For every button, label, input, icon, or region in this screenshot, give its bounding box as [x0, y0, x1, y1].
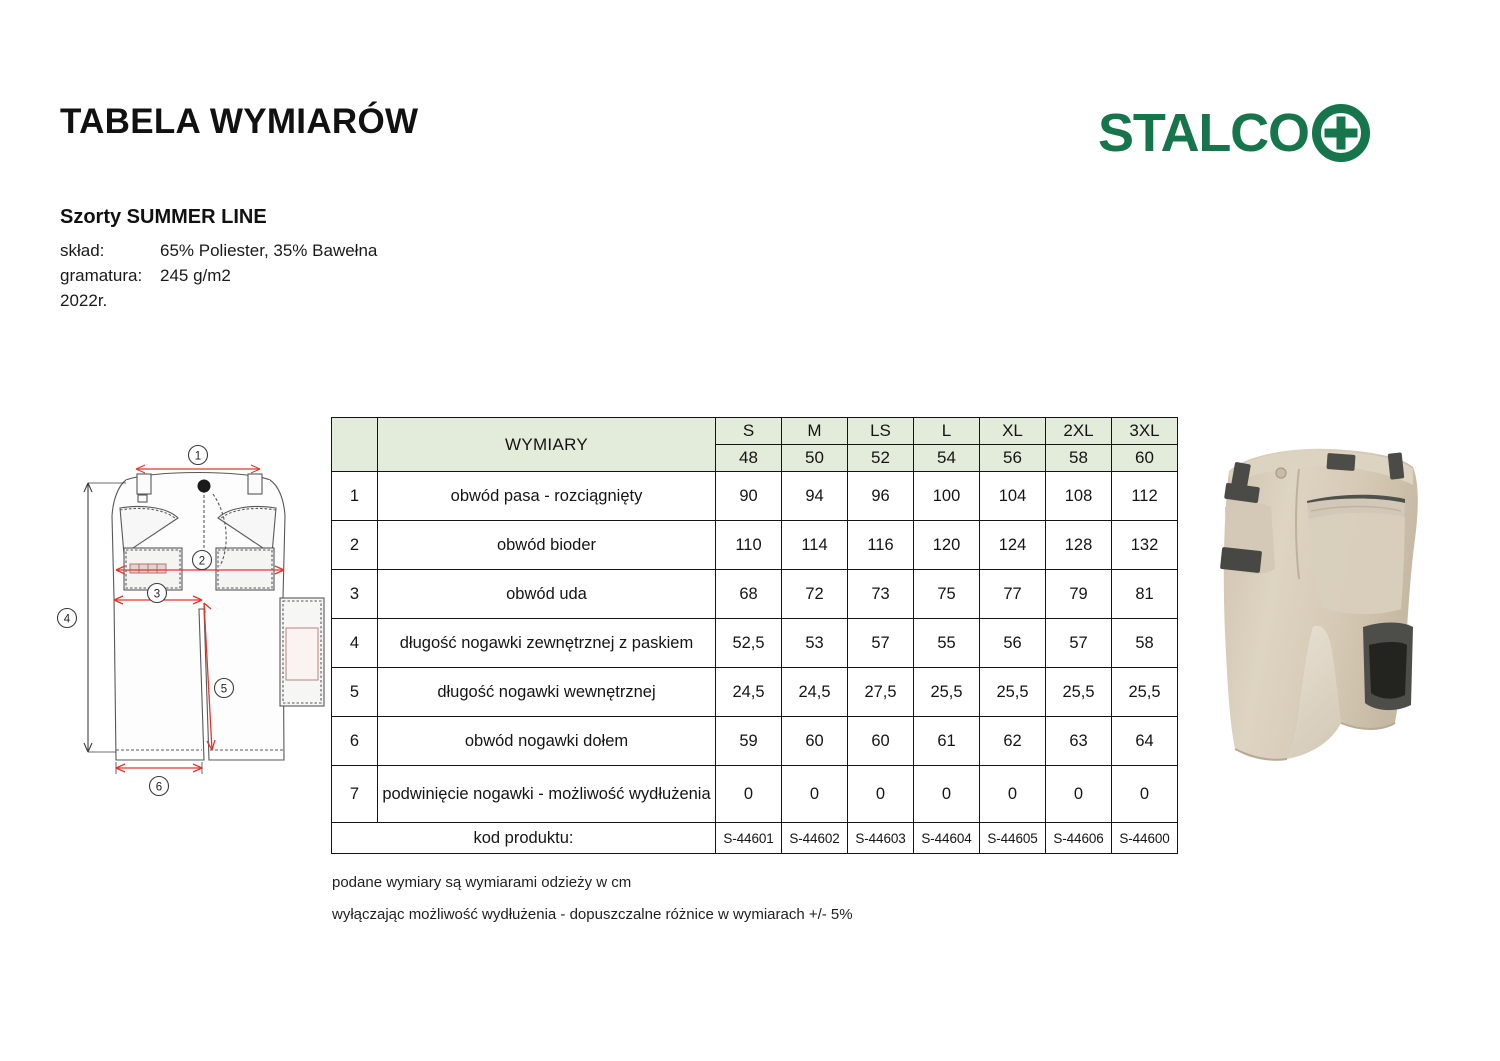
- brand-wordmark: STALCO: [1098, 106, 1309, 160]
- measurements-table-wrapper: WYMIARY S M LS L XL 2XL 3XL 48 50 52 54 …: [331, 417, 1178, 854]
- cell-value: 72: [782, 570, 848, 619]
- cell-value: 63: [1046, 717, 1112, 766]
- spec-row-sklad: skład: 65% Poliester, 35% Bawełna: [60, 238, 377, 263]
- row-description: obwód pasa - rozciągnięty: [378, 472, 716, 521]
- cell-value: 73: [848, 570, 914, 619]
- cell-value: 25,5: [1046, 668, 1112, 717]
- cell-value: 57: [848, 619, 914, 668]
- footnote-tolerance: wyłączając możliwość wydłużenia - dopusz…: [332, 899, 853, 931]
- cell-value: 120: [914, 521, 980, 570]
- footnote-units: podane wymiary są wymiarami odzieży w cm: [332, 867, 853, 899]
- product-code-label: kod produktu:: [332, 823, 716, 854]
- table-row: 4 długość nogawki zewnętrznej z paskiem …: [332, 619, 1178, 668]
- cell-value: 53: [782, 619, 848, 668]
- row-description: obwód nogawki dołem: [378, 717, 716, 766]
- row-index: 4: [332, 619, 378, 668]
- svg-text:4: 4: [64, 614, 71, 626]
- spec-value-gramatura: 245 g/m2: [160, 263, 231, 288]
- cell-value: 75: [914, 570, 980, 619]
- svg-text:5: 5: [221, 684, 227, 696]
- header-size-s: S: [716, 418, 782, 445]
- circle-plus-icon: [1310, 102, 1372, 164]
- row-description: obwód bioder: [378, 521, 716, 570]
- size-chart-page: TABELA WYMIARÓW STALCO Szorty SUMMER LIN…: [0, 0, 1500, 1061]
- cell-value: 110: [716, 521, 782, 570]
- cell-value: 61: [914, 717, 980, 766]
- callout-6: 6: [150, 777, 169, 796]
- svg-text:2: 2: [199, 556, 205, 568]
- product-code: S-44600: [1112, 823, 1178, 854]
- row-index: 2: [332, 521, 378, 570]
- header-num-60: 60: [1112, 445, 1178, 472]
- header-size-m: M: [782, 418, 848, 445]
- cell-value: 132: [1112, 521, 1178, 570]
- cell-value: 52,5: [716, 619, 782, 668]
- svg-text:1: 1: [195, 451, 201, 463]
- cell-value: 104: [980, 472, 1046, 521]
- cell-value: 27,5: [848, 668, 914, 717]
- header-size-xl: XL: [980, 418, 1046, 445]
- cell-value: 124: [980, 521, 1046, 570]
- svg-text:6: 6: [156, 782, 162, 794]
- table-row: 6 obwód nogawki dołem 59 60 60 61 62 63 …: [332, 717, 1178, 766]
- cell-value: 55: [914, 619, 980, 668]
- product-code: S-44606: [1046, 823, 1112, 854]
- header-size-3xl: 3XL: [1112, 418, 1178, 445]
- cell-value: 62: [980, 717, 1046, 766]
- row-description: obwód uda: [378, 570, 716, 619]
- cell-value: 56: [980, 619, 1046, 668]
- header-num-50: 50: [782, 445, 848, 472]
- cell-value: 0: [914, 766, 980, 823]
- header-num-48: 48: [716, 445, 782, 472]
- cell-value: 25,5: [980, 668, 1046, 717]
- header-cell-wymiary: WYMIARY: [378, 418, 716, 472]
- header-cell-index: [332, 418, 378, 472]
- header-num-56: 56: [980, 445, 1046, 472]
- row-description: podwinięcie nogawki - możliwość wydłużen…: [378, 766, 716, 823]
- product-spec-list: skład: 65% Poliester, 35% Bawełna gramat…: [60, 238, 377, 313]
- cell-value: 0: [848, 766, 914, 823]
- product-code: S-44604: [914, 823, 980, 854]
- cell-value: 0: [1112, 766, 1178, 823]
- row-index: 6: [332, 717, 378, 766]
- product-photo: [1199, 423, 1444, 781]
- callout-3: 3: [148, 584, 167, 603]
- footnotes: podane wymiary są wymiarami odzieży w cm…: [332, 867, 853, 931]
- cell-value: 60: [848, 717, 914, 766]
- spec-value-year: 2022r.: [60, 288, 107, 313]
- header-size-l: L: [914, 418, 980, 445]
- measurements-table: WYMIARY S M LS L XL 2XL 3XL 48 50 52 54 …: [331, 417, 1178, 854]
- cell-value: 81: [1112, 570, 1178, 619]
- cell-value: 90: [716, 472, 782, 521]
- spec-row-gramatura: gramatura: 245 g/m2: [60, 263, 377, 288]
- header-num-58: 58: [1046, 445, 1112, 472]
- cell-value: 24,5: [782, 668, 848, 717]
- cell-value: 57: [1046, 619, 1112, 668]
- row-index: 7: [332, 766, 378, 823]
- cell-value: 0: [782, 766, 848, 823]
- cell-value: 25,5: [914, 668, 980, 717]
- cell-value: 100: [914, 472, 980, 521]
- cell-value: 0: [980, 766, 1046, 823]
- product-code-row: kod produktu: S-44601 S-44602 S-44603 S-…: [332, 823, 1178, 854]
- cell-value: 58: [1112, 619, 1178, 668]
- cell-value: 59: [716, 717, 782, 766]
- product-code: S-44603: [848, 823, 914, 854]
- cell-value: 114: [782, 521, 848, 570]
- cell-value: 0: [716, 766, 782, 823]
- callout-1: 1: [189, 446, 208, 465]
- spec-label-gramatura: gramatura:: [60, 263, 160, 288]
- spec-value-sklad: 65% Poliester, 35% Bawełna: [160, 238, 377, 263]
- row-index: 5: [332, 668, 378, 717]
- cell-value: 96: [848, 472, 914, 521]
- header-num-54: 54: [914, 445, 980, 472]
- product-code: S-44601: [716, 823, 782, 854]
- stalco-logo: STALCO: [1098, 104, 1372, 162]
- spec-row-year: 2022r.: [60, 288, 377, 313]
- header-size-2xl: 2XL: [1046, 418, 1112, 445]
- spec-label-sklad: skład:: [60, 238, 160, 263]
- row-description: długość nogawki zewnętrznej z paskiem: [378, 619, 716, 668]
- button-detail: [198, 480, 211, 493]
- header-num-52: 52: [848, 445, 914, 472]
- product-code: S-44602: [782, 823, 848, 854]
- cell-value: 0: [1046, 766, 1112, 823]
- table-row: 1 obwód pasa - rozciągnięty 90 94 96 100…: [332, 472, 1178, 521]
- callout-5: 5: [215, 679, 234, 698]
- cell-value: 68: [716, 570, 782, 619]
- row-description: długość nogawki wewnętrznej: [378, 668, 716, 717]
- callout-4: 4: [58, 609, 77, 628]
- cell-value: 79: [1046, 570, 1112, 619]
- cell-value: 108: [1046, 472, 1112, 521]
- cell-value: 94: [782, 472, 848, 521]
- cell-value: 24,5: [716, 668, 782, 717]
- row-index: 3: [332, 570, 378, 619]
- shorts-technical-drawing: 1 2 3 4 5 6: [52, 438, 342, 818]
- product-name: Szorty SUMMER LINE: [60, 206, 267, 229]
- cell-value: 116: [848, 521, 914, 570]
- cell-value: 128: [1046, 521, 1112, 570]
- header-size-ls: LS: [848, 418, 914, 445]
- row-index: 1: [332, 472, 378, 521]
- table-row: 5 długość nogawki wewnętrznej 24,5 24,5 …: [332, 668, 1178, 717]
- product-code: S-44605: [980, 823, 1046, 854]
- svg-text:3: 3: [154, 589, 160, 601]
- page-title: TABELA WYMIARÓW: [60, 102, 418, 142]
- table-header-row-sizes: WYMIARY S M LS L XL 2XL 3XL: [332, 418, 1178, 445]
- table-row: 3 obwód uda 68 72 73 75 77 79 81: [332, 570, 1178, 619]
- cell-value: 64: [1112, 717, 1178, 766]
- callout-2: 2: [193, 551, 212, 570]
- cell-value: 25,5: [1112, 668, 1178, 717]
- cell-value: 77: [980, 570, 1046, 619]
- cell-value: 60: [782, 717, 848, 766]
- table-row: 7 podwinięcie nogawki - możliwość wydłuż…: [332, 766, 1178, 823]
- cell-value: 112: [1112, 472, 1178, 521]
- table-row: 2 obwód bioder 110 114 116 120 124 128 1…: [332, 521, 1178, 570]
